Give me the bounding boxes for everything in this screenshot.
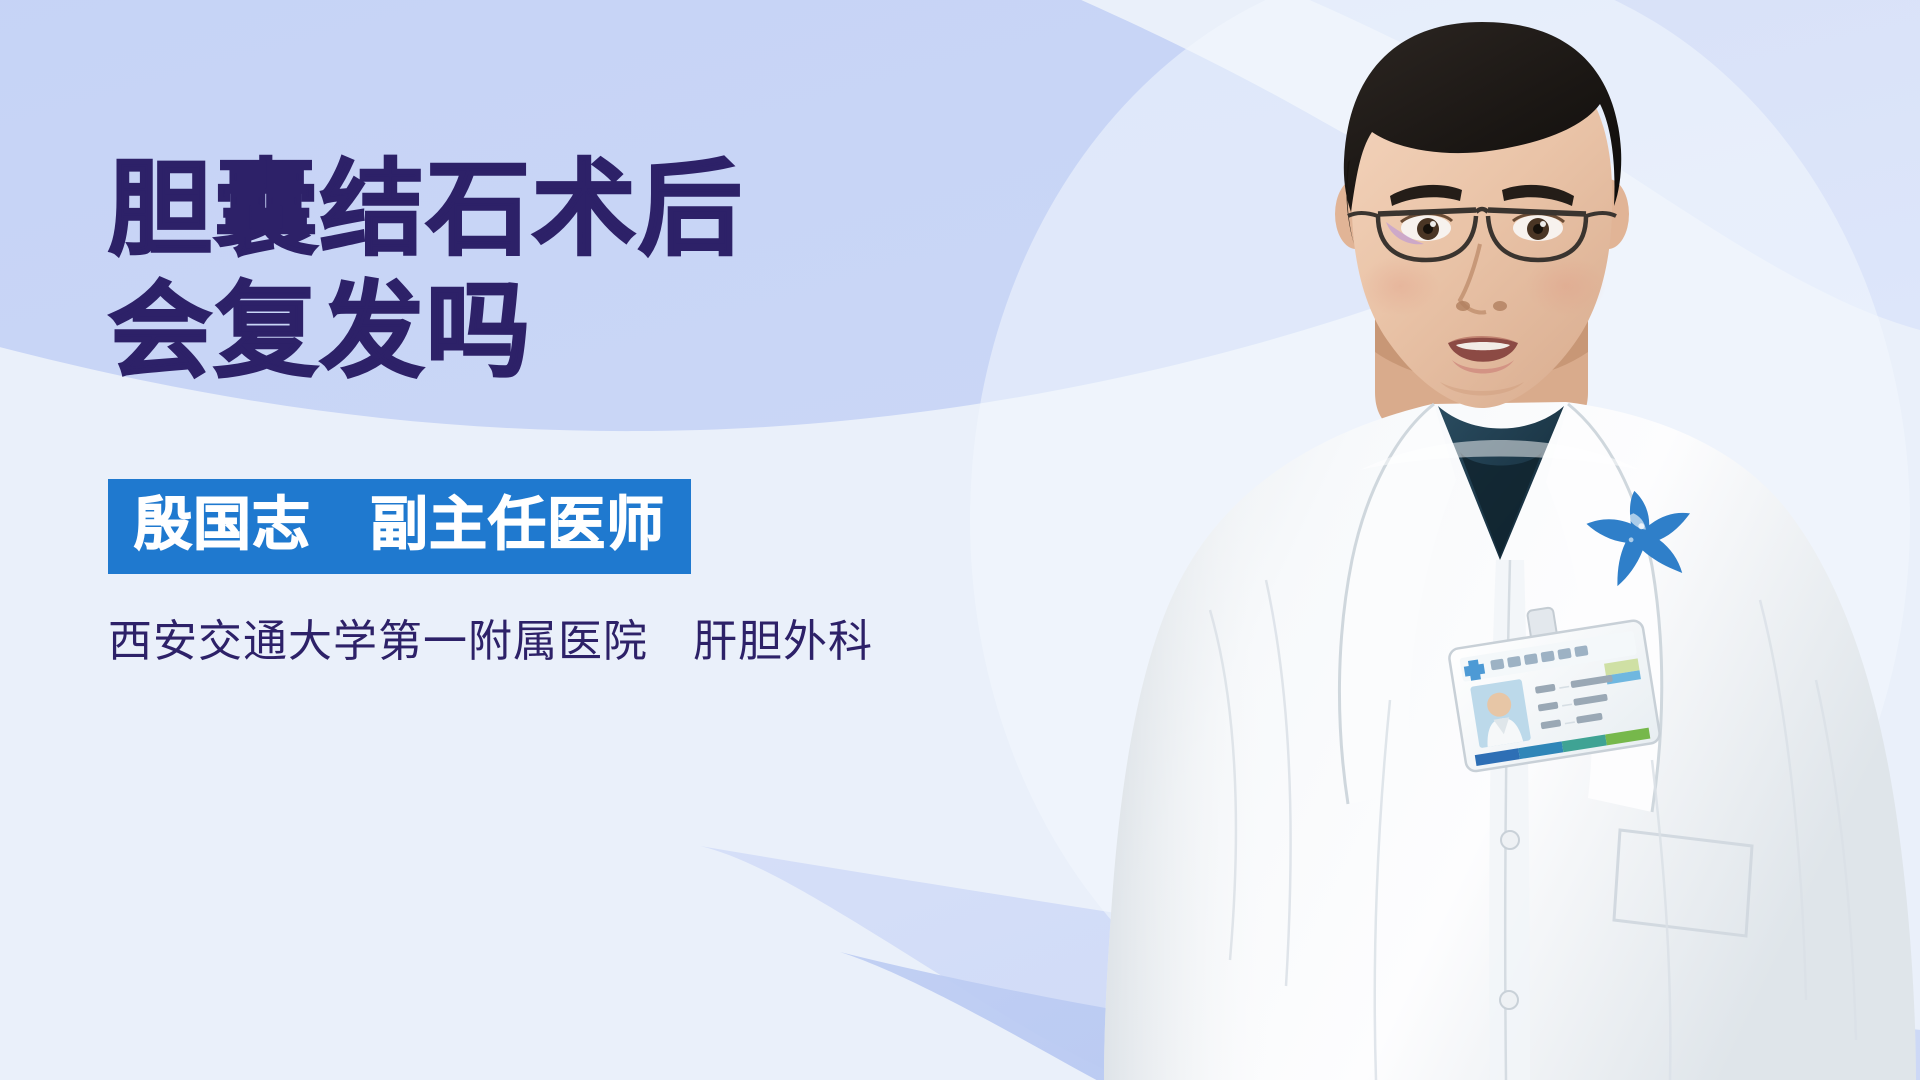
doctor-name-badge: 殷国志 副主任医师 [108, 479, 691, 573]
coat-button [1501, 831, 1519, 849]
title-line-1: 胆囊结石术后 [108, 150, 1108, 272]
nostril-right [1493, 301, 1507, 311]
title-line-2: 会复发吗 [108, 272, 1108, 394]
coat-button [1500, 991, 1518, 1009]
cheek-right [1526, 256, 1606, 316]
thumbnail-canvas: 胆囊结石术后 会复发吗 殷国志 副主任医师 西安交通大学第一附属医院 肝胆外科 [0, 0, 1920, 1080]
text-column: 胆囊结石术后 会复发吗 殷国志 副主任医师 西安交通大学第一附属医院 肝胆外科 [108, 150, 1108, 669]
cheek-left [1360, 256, 1440, 316]
page-title: 胆囊结石术后 会复发吗 [108, 150, 1108, 393]
nostril-left [1456, 301, 1470, 311]
eye-highlight-right [1540, 221, 1546, 227]
doctor-portrait [1060, 0, 1920, 1080]
eye-highlight-left [1430, 221, 1436, 227]
doctor-affiliation: 西安交通大学第一附属医院 肝胆外科 [108, 616, 1108, 669]
doctor-name-and-rank: 殷国志 副主任医师 [134, 492, 665, 557]
